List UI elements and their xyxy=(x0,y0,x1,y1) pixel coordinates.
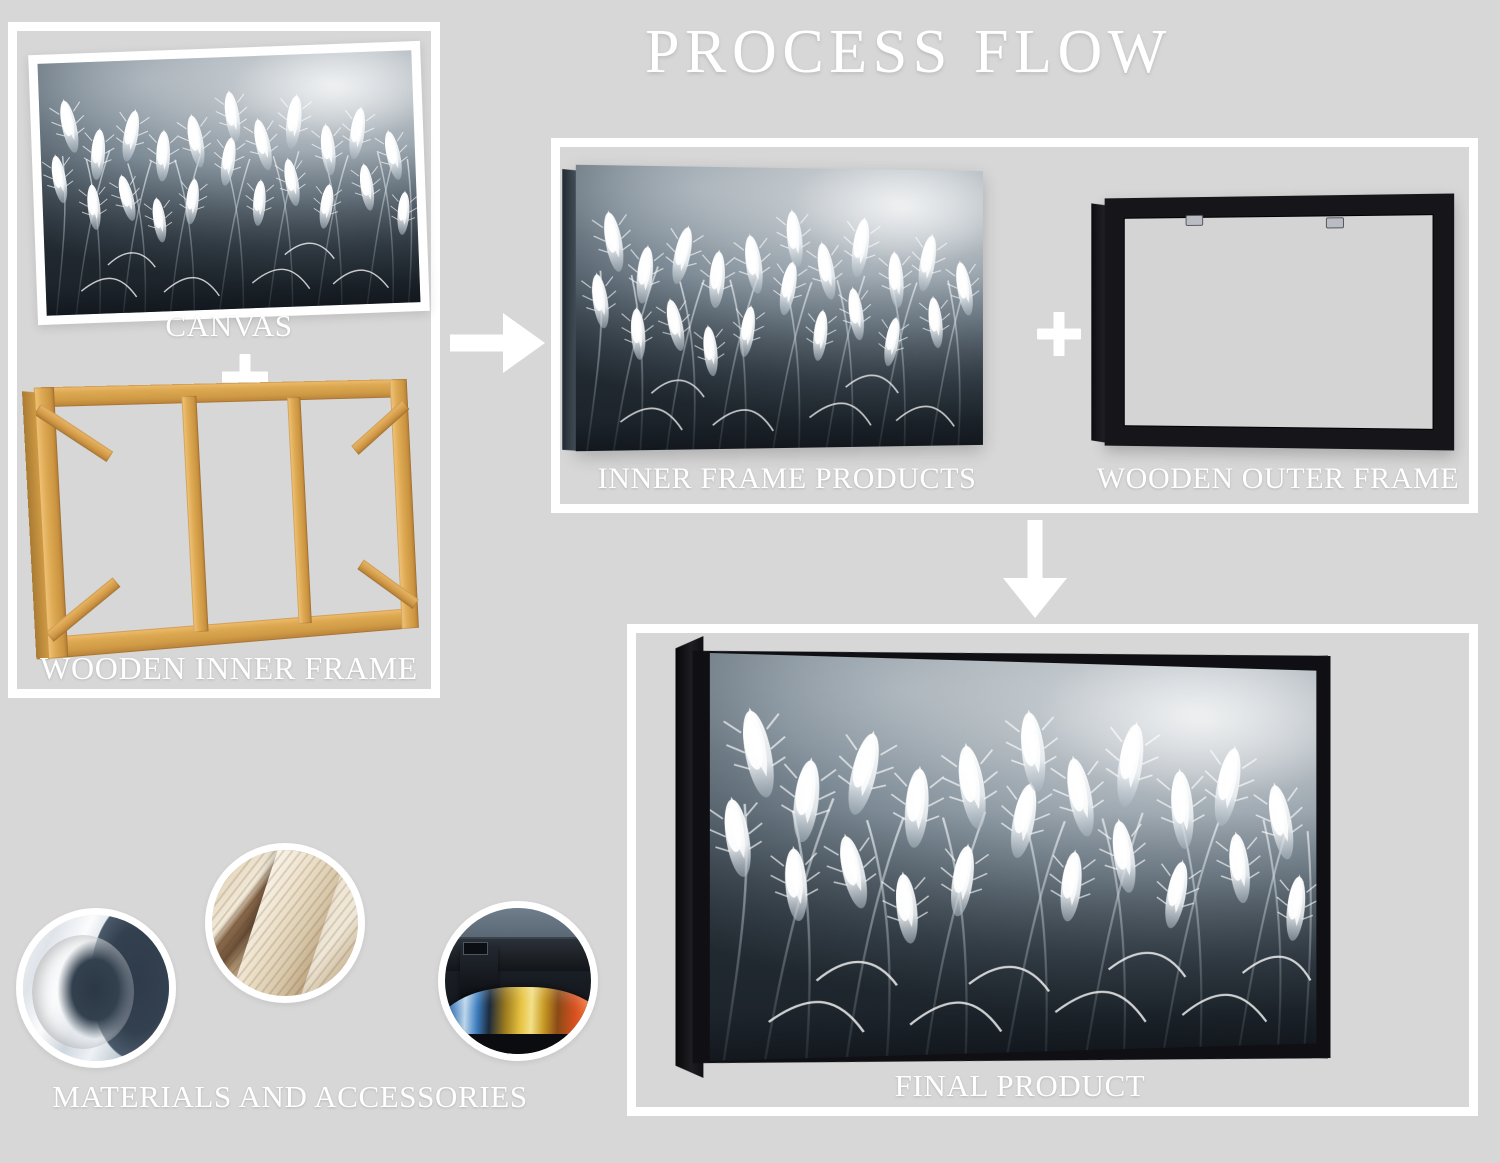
material-photo-printer xyxy=(438,901,598,1061)
label-final-product: FINAL PRODUCT xyxy=(700,1068,1340,1104)
arrow-to-inner-frame-products-icon xyxy=(450,313,545,373)
hanging-hook-left-icon xyxy=(1186,215,1204,226)
final-product-graphic xyxy=(675,635,1330,1079)
material-photo-canvas-roll xyxy=(16,908,176,1068)
wooden-inner-frame-graphic xyxy=(34,379,419,659)
arrow-to-final-product-icon xyxy=(1003,520,1067,618)
hanging-hook-right-icon xyxy=(1326,217,1344,228)
inner-frame-product-graphic xyxy=(576,165,983,452)
label-canvas: CANVAS xyxy=(33,308,425,344)
label-wooden-inner-frame: WOODEN INNER FRAME xyxy=(20,650,438,687)
canvas-sheet xyxy=(28,41,430,325)
label-inner-frame-products: INNER FRAME PRODUCTS xyxy=(579,462,995,496)
material-photo-wood-strips xyxy=(205,843,365,1003)
artwork-canvas xyxy=(38,50,421,316)
wooden-outer-frame-graphic xyxy=(1105,193,1455,450)
process-flow-infographic: PROCESS FLOW xyxy=(0,0,1500,1163)
label-wooden-outer-frame: WOODEN OUTER FRAME xyxy=(1080,462,1476,496)
label-materials-and-accessories: MATERIALS AND ACCESSORIES xyxy=(20,1079,560,1115)
page-title: PROCESS FLOW xyxy=(645,17,1172,88)
plus-product-outer-icon xyxy=(1037,312,1081,356)
